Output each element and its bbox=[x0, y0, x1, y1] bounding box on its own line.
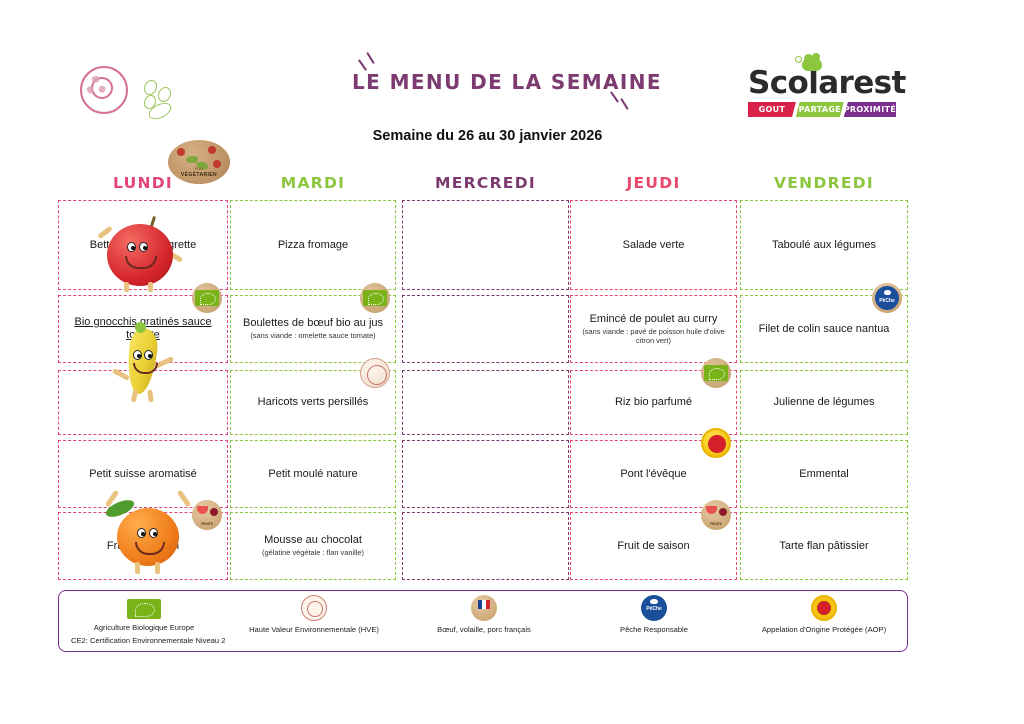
legend-label: Appelation d'Origine Protégée (AOP) bbox=[762, 625, 886, 634]
menu-cell: Taboulé aux légumes bbox=[740, 200, 908, 290]
apple-mascot bbox=[91, 214, 191, 292]
dish-name: Petit moulé nature bbox=[268, 468, 357, 481]
day-header-mardi: MARDI bbox=[230, 174, 396, 192]
mascot-leg bbox=[135, 562, 140, 574]
banana-mascot bbox=[106, 320, 186, 406]
mascot-arm bbox=[112, 368, 130, 381]
orange-body bbox=[117, 508, 179, 566]
dish-note: (sans viande : pavé de poisson huile d'o… bbox=[577, 328, 730, 345]
decorative-stamp-logo bbox=[72, 62, 182, 120]
brand-tag-partage: PARTAGE bbox=[796, 102, 844, 117]
orange-mascot bbox=[93, 490, 203, 576]
mascot-eye bbox=[139, 242, 148, 252]
bio-label-icon bbox=[192, 283, 222, 313]
leaf-icon bbox=[144, 80, 157, 95]
day-header-jeudi: JEUDI bbox=[570, 174, 737, 192]
mascot-leg bbox=[148, 282, 153, 292]
tomato-icon bbox=[177, 148, 185, 156]
banana-body bbox=[125, 327, 160, 396]
menu-column-jeudi: Salade verteEmincé de poulet au curry(sa… bbox=[570, 200, 737, 582]
menu-column-mercredi bbox=[402, 200, 569, 582]
aop-legend-icon bbox=[811, 595, 837, 621]
dish-name: Taboulé aux légumes bbox=[772, 239, 876, 252]
menu-grid: Betteraves vinaigretteBio gnocchis grati… bbox=[58, 200, 908, 582]
day-header-vendredi: VENDREDI bbox=[740, 174, 908, 192]
mascot-leg bbox=[155, 562, 160, 574]
menu-cell bbox=[402, 370, 569, 435]
brand-tag-proximite: PROXIMITÉ bbox=[844, 102, 896, 117]
legend-note: CE2: Certification Environnementale Nive… bbox=[71, 636, 226, 645]
week-subtitle: Semaine du 26 au 30 janvier 2026 bbox=[300, 128, 675, 144]
viande-legend-icon bbox=[471, 595, 497, 621]
page-title-block: LE MENU DE LA SEMAINE bbox=[352, 70, 622, 94]
mascot-eye bbox=[133, 350, 142, 360]
title-accent-tick bbox=[366, 52, 375, 64]
menu-cell bbox=[402, 295, 569, 363]
menu-cell: Tarte flan pâtissier bbox=[740, 512, 908, 580]
mascot-leg bbox=[147, 390, 154, 403]
legend-label: Haute Valeur Environnementale (HVE) bbox=[249, 625, 379, 634]
menu-column-mardi: Pizza fromageBoulettes de bœuf bio au ju… bbox=[230, 200, 396, 582]
menu-cell: Pizza fromage bbox=[230, 200, 396, 290]
dish-name: Tarte flan pâtissier bbox=[779, 540, 868, 553]
page-title: LE MENU DE LA SEMAINE bbox=[352, 70, 622, 94]
hve-legend-icon bbox=[301, 595, 327, 621]
legend-item: PêChePêche Responsable bbox=[569, 595, 739, 635]
logo-cloud-icon bbox=[802, 58, 822, 71]
mascot-eye bbox=[149, 528, 158, 538]
brand-tag-gout: GOUT bbox=[748, 102, 796, 117]
dish-name: Petit suisse aromatisé bbox=[89, 468, 197, 481]
day-header-row: LUNDIMARDIMERCREDIJEUDIVENDREDI bbox=[58, 174, 908, 196]
dish-name: Boulettes de bœuf bio au jus bbox=[243, 317, 383, 330]
mascot-eye bbox=[144, 350, 153, 360]
dish-name: Emincé de poulet au curry bbox=[590, 313, 718, 326]
menu-cell: Emmental bbox=[740, 440, 908, 508]
dish-note: (sans viande : omelette sauce tomate) bbox=[250, 332, 375, 341]
mascot-eye bbox=[127, 242, 136, 252]
bio-label-icon bbox=[360, 283, 390, 313]
mascot-arm bbox=[97, 226, 113, 240]
menu-column-vendredi: Taboulé aux légumesFilet de colin sauce … bbox=[740, 200, 908, 582]
legend-label: Agriculture Biologique Europe bbox=[94, 623, 194, 632]
legend-item: Agriculture Biologique Europe bbox=[59, 595, 229, 635]
day-header-lundi: LUNDI bbox=[58, 174, 228, 192]
menu-cell: Mousse au chocolat(gélatine végétale : f… bbox=[230, 512, 396, 580]
mascot-arm bbox=[177, 490, 191, 508]
dish-name: Pizza fromage bbox=[278, 239, 348, 252]
aop-label-icon bbox=[701, 428, 731, 458]
menu-cell: Salade verte bbox=[570, 200, 737, 290]
dish-name: Fruit de saison bbox=[617, 540, 689, 553]
dish-name: Riz bio parfumé bbox=[615, 396, 692, 409]
fruit-label-icon: FRUITS bbox=[701, 500, 731, 530]
menu-cell bbox=[402, 440, 569, 508]
menu-cell bbox=[402, 512, 569, 580]
brand-tagline-bar: GOUT PARTAGE PROXIMITÉ bbox=[748, 102, 896, 117]
dish-note: (gélatine végétale : flan vanille) bbox=[262, 549, 364, 558]
menu-cell: Emincé de poulet au curry(sans viande : … bbox=[570, 295, 737, 363]
scolarest-logo: Scolarest GOUT PARTAGE PROXIMITÉ bbox=[748, 66, 896, 117]
legend-item: Appelation d'Origine Protégée (AOP) bbox=[739, 595, 909, 635]
dish-name: Mousse au chocolat bbox=[264, 534, 362, 547]
bio-label-icon bbox=[701, 358, 731, 388]
legend-panel: Agriculture Biologique EuropeHaute Valeu… bbox=[58, 590, 908, 652]
hve-label-icon bbox=[360, 358, 390, 388]
menu-cell bbox=[402, 200, 569, 290]
legend-label: Pêche Responsable bbox=[620, 625, 688, 634]
mascot-leg bbox=[131, 390, 138, 403]
legend-items: Agriculture Biologique EuropeHaute Valeu… bbox=[59, 595, 909, 635]
menu-poster: LE MENU DE LA SEMAINE Semaine du 26 au 3… bbox=[0, 0, 1024, 724]
dish-name: Julienne de légumes bbox=[774, 396, 875, 409]
logo-dot-icon bbox=[795, 56, 802, 63]
dish-name: Emmental bbox=[799, 468, 849, 481]
dish-name: Pont l'évêque bbox=[620, 468, 686, 481]
apple-body bbox=[107, 224, 173, 286]
legend-item: Haute Valeur Environnementale (HVE) bbox=[229, 595, 399, 635]
dish-name: Filet de colin sauce nantua bbox=[759, 323, 890, 336]
fruit-label-icon: FRUITS bbox=[192, 500, 222, 530]
peche-legend-icon: PêChe bbox=[641, 595, 667, 621]
menu-cell: Julienne de légumes bbox=[740, 370, 908, 435]
legend-item: Bœuf, volaille, porc français bbox=[399, 595, 569, 635]
mascot-eye bbox=[137, 528, 146, 538]
menu-cell: Petit moulé nature bbox=[230, 440, 396, 508]
mascot-leg bbox=[124, 282, 129, 292]
bio-legend-icon bbox=[127, 599, 161, 619]
leaf-icon bbox=[158, 87, 171, 102]
dish-name: Salade verte bbox=[623, 239, 685, 252]
tomato-icon bbox=[208, 146, 216, 154]
peche-responsable-label-icon: PêChe bbox=[872, 283, 902, 313]
legend-label: Bœuf, volaille, porc français bbox=[437, 625, 531, 634]
banana-tip-icon bbox=[135, 322, 146, 333]
title-accent-tick bbox=[620, 98, 629, 110]
dish-name: Haricots verts persillés bbox=[258, 396, 369, 409]
day-header-mercredi: MERCREDI bbox=[402, 174, 569, 192]
stamp-ticks-icon bbox=[86, 76, 106, 96]
brand-name: Scolarest bbox=[748, 66, 896, 100]
vegetarian-badge-sub: PLAT bbox=[168, 167, 230, 171]
